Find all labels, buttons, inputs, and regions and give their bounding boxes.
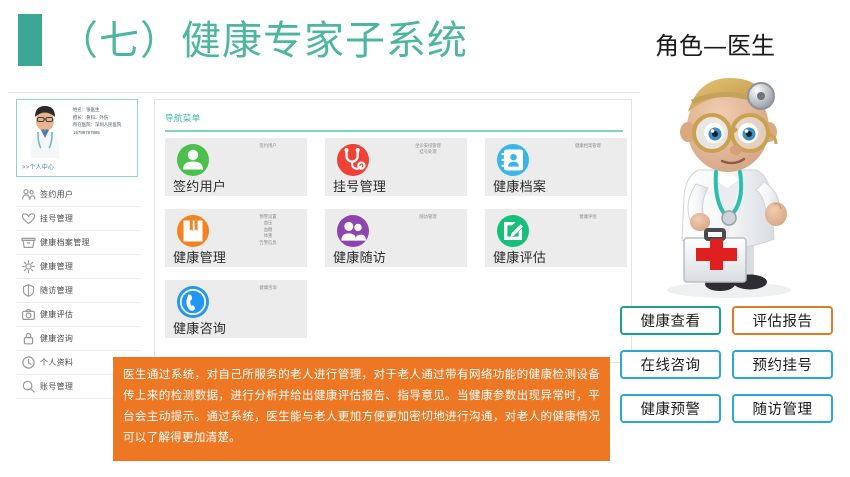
- people-icon: [16, 187, 40, 202]
- sidebar-item-4[interactable]: 健康管理: [16, 255, 140, 279]
- nav-menu-panel: 导航菜单 签约用户签约用户坐诊安排管理挂号处理挂号管理健康档案管理健康档案预警设…: [154, 99, 632, 363]
- sidebar-item-6[interactable]: 健康评估: [16, 303, 140, 327]
- sidebar-item-2[interactable]: 挂号管理: [16, 207, 140, 231]
- panel-header: 导航菜单: [165, 108, 623, 132]
- card-subtext: 随访管理: [395, 214, 461, 220]
- action-button-label: 健康查看: [641, 310, 701, 331]
- module-card-5[interactable]: 随访管理健康随访: [325, 209, 467, 267]
- sidebar-item-label: 账号管理: [40, 381, 73, 392]
- archive-icon: [16, 235, 40, 250]
- heart-icon: [16, 211, 40, 226]
- slide-title-bar: （七）健康专家子系统: [0, 0, 620, 88]
- sidebar-item-label: 随访管理: [40, 285, 73, 296]
- personal-center-link[interactable]: >>个人中心: [22, 162, 54, 171]
- page-title: （七）健康专家子系统: [58, 10, 468, 72]
- action-button-label: 在线咨询: [641, 354, 701, 375]
- description-text: 医生通过系统，对自己所服务的老人进行管理，对于老人通过带有网络功能的健康检测设备…: [123, 364, 600, 448]
- doctor-avatar: [21, 104, 69, 158]
- card-title: 健康评估: [493, 247, 546, 266]
- module-card-1[interactable]: 签约用户签约用户: [165, 138, 307, 196]
- doctor-profile-card[interactable]: 姓名：张医生 擅长：骨科、外伤 所在医院：深圳人民医院 15789787885 …: [16, 99, 138, 177]
- card-subtext: 健康咨询: [235, 285, 301, 291]
- stethoscope-icon: [337, 144, 369, 176]
- doctor-profile-info: 姓名：张医生 擅长：骨科、外伤 所在医院：深圳人民医院 15789787885: [73, 106, 137, 136]
- shield-icon: [16, 283, 40, 298]
- card-subtext: 坐诊安排管理挂号处理: [395, 143, 461, 156]
- sidebar-item-7[interactable]: 健康咨询: [16, 327, 140, 351]
- card-title: 挂号管理: [333, 176, 386, 195]
- sidebar-item-label: 健康评估: [40, 309, 73, 320]
- sidebar-item-label: 挂号管理: [40, 213, 73, 224]
- group-icon: [337, 215, 369, 247]
- action-button-label: 随访管理: [753, 398, 813, 419]
- gear-icon: [16, 259, 40, 274]
- card-subtext: 健康档案管理: [555, 143, 621, 149]
- action-button-3[interactable]: 在线咨询: [620, 350, 721, 379]
- description-box: 医生通过系统，对自己所服务的老人进行管理，对于老人通过带有网络功能的健康检测设备…: [113, 357, 610, 461]
- sidebar-item-label: 个人资料: [40, 357, 73, 368]
- action-button-label: 预约挂号: [753, 354, 813, 375]
- person-icon: [177, 144, 209, 176]
- panel-title: 导航菜单: [165, 113, 201, 123]
- card-title: 健康管理: [173, 247, 226, 266]
- card-title: 健康档案: [493, 176, 546, 195]
- card-subtext: 健康评估: [555, 214, 621, 220]
- action-button-4[interactable]: 预约挂号: [732, 350, 833, 379]
- sidebar-item-label: 签约用户: [40, 189, 73, 200]
- sidebar-item-5[interactable]: 随访管理: [16, 279, 140, 303]
- camera-icon: [16, 307, 40, 322]
- sidebar-item-label: 健康管理: [40, 261, 73, 272]
- contact-book-icon: [497, 144, 529, 176]
- card-subtext: 签约用户: [235, 143, 301, 149]
- module-card-7[interactable]: 健康咨询健康咨询: [165, 280, 307, 338]
- sidebar-item-label: 健康档案管理: [40, 237, 90, 248]
- module-card-2[interactable]: 坐诊安排管理挂号处理挂号管理: [325, 138, 467, 196]
- search-icon: [16, 379, 40, 394]
- title-accent-block: [18, 14, 42, 66]
- action-button-5[interactable]: 健康预警: [620, 394, 721, 423]
- doctor-name: 姓名：张医生: [73, 106, 137, 114]
- doctor-illustration: [624, 62, 839, 312]
- card-title: 健康随访: [333, 247, 386, 266]
- phone-icon: [177, 286, 209, 318]
- card-title: 健康咨询: [173, 318, 226, 337]
- doctor-hospital: 所在医院：深圳人民医院: [73, 121, 137, 129]
- edit-icon: [497, 215, 529, 247]
- module-card-3[interactable]: 健康档案管理健康档案: [485, 138, 627, 196]
- doctor-specialty: 擅长：骨科、外伤: [73, 114, 137, 122]
- sidebar-item-1[interactable]: 签约用户: [16, 183, 140, 207]
- module-card-grid: 签约用户签约用户坐诊安排管理挂号处理挂号管理健康档案管理健康档案预警设置血压血糖…: [165, 138, 625, 356]
- module-card-6[interactable]: 健康评估健康评估: [485, 209, 627, 267]
- card-title: 签约用户: [173, 176, 226, 195]
- sidebar-item-label: 健康咨询: [40, 333, 73, 344]
- action-button-6[interactable]: 随访管理: [732, 394, 833, 423]
- role-caption: 角色—医生: [655, 26, 775, 61]
- book-icon: [177, 215, 209, 247]
- sidebar-item-3[interactable]: 健康档案管理: [16, 231, 140, 255]
- lock-icon: [16, 331, 40, 346]
- clock-icon: [16, 355, 40, 370]
- card-subtext: 预警设置血压血糖体重告警信息: [235, 214, 301, 246]
- action-button-label: 健康预警: [641, 398, 701, 419]
- doctor-phone: 15789787885: [73, 129, 137, 137]
- action-button-label: 评估报告: [753, 310, 813, 331]
- action-button-grid: 健康查看评估报告在线咨询预约挂号健康预警随访管理: [620, 306, 845, 436]
- module-card-4[interactable]: 预警设置血压血糖体重告警信息健康管理: [165, 209, 307, 267]
